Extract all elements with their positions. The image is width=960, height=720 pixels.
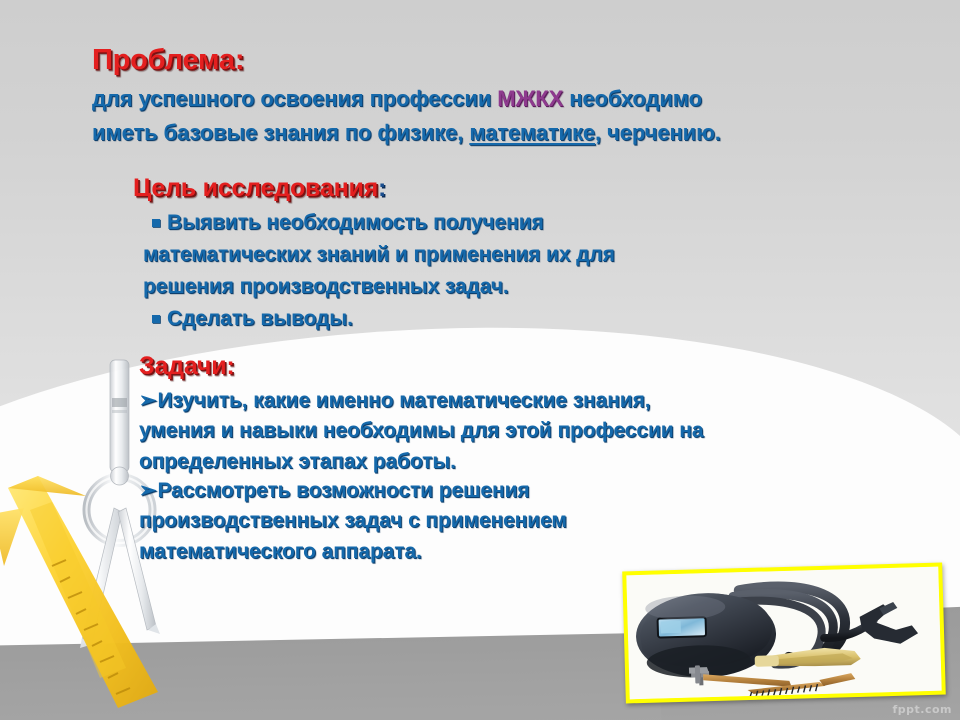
problem-abbreviation: МЖКХ — [497, 86, 563, 111]
watermark: fppt.com — [892, 703, 952, 716]
tasks-heading: Задачи: — [139, 352, 235, 381]
problem-line-2-part-b: , черчению. — [595, 120, 721, 145]
goal-heading-colon: : — [378, 174, 386, 202]
presentation-slide: Проблема: для успешного освоения професс… — [0, 0, 960, 720]
goal-item-2-line-1: Сделать выводы. — [152, 307, 353, 331]
task-item-2-line-1: ➢Рассмотреть возможности решения — [139, 478, 530, 503]
square-bullet-icon — [152, 315, 160, 323]
arrow-bullet-icon: ➢ — [139, 389, 157, 412]
task-item-1-line-3: определенных этапах работы. — [139, 450, 456, 474]
task-item-2-text-1: Рассмотреть возможности решения — [158, 479, 530, 502]
triangle-ruler-icon — [0, 470, 220, 720]
task-item-2-line-3: математического аппарата. — [139, 540, 422, 564]
welding-photo — [626, 567, 941, 700]
task-item-2-line-2: производственных задач с применением — [139, 509, 567, 533]
problem-line-2-part-a: иметь базовые знания по физике, — [92, 120, 469, 145]
problem-heading: Проблема: — [92, 44, 244, 77]
goal-item-1-line-1: Выявить необходимость получения — [152, 211, 544, 235]
goal-item-1-line-3: решения производственных задач. — [143, 275, 509, 299]
task-item-1-line-1: ➢Изучить, какие именно математические зн… — [139, 388, 650, 413]
problem-line-1: для успешного освоения профессии МЖКХ не… — [92, 86, 702, 112]
goal-heading-text: Цель исследования — [133, 174, 378, 202]
problem-line-1-part-b: необходимо — [563, 86, 702, 111]
problem-underlined-word: математике — [469, 120, 595, 145]
problem-line-1-part-a: для успешного освоения профессии — [92, 86, 497, 111]
arrow-bullet-icon: ➢ — [139, 479, 157, 502]
welding-equipment-illustration — [626, 567, 941, 700]
goal-item-2-text-1: Сделать выводы. — [167, 307, 353, 330]
goal-item-1-line-2: математических знаний и применения их дл… — [143, 243, 615, 267]
task-item-1-line-2: умения и навыки необходимы для этой проф… — [139, 419, 703, 443]
goal-heading: Цель исследования: — [133, 174, 386, 203]
problem-line-2: иметь базовые знания по физике, математи… — [92, 120, 721, 146]
welding-photo-frame — [622, 563, 946, 704]
square-bullet-icon — [152, 219, 160, 227]
task-item-1-text-1: Изучить, какие именно математические зна… — [158, 389, 651, 412]
goal-item-1-text-1: Выявить необходимость получения — [167, 211, 544, 234]
